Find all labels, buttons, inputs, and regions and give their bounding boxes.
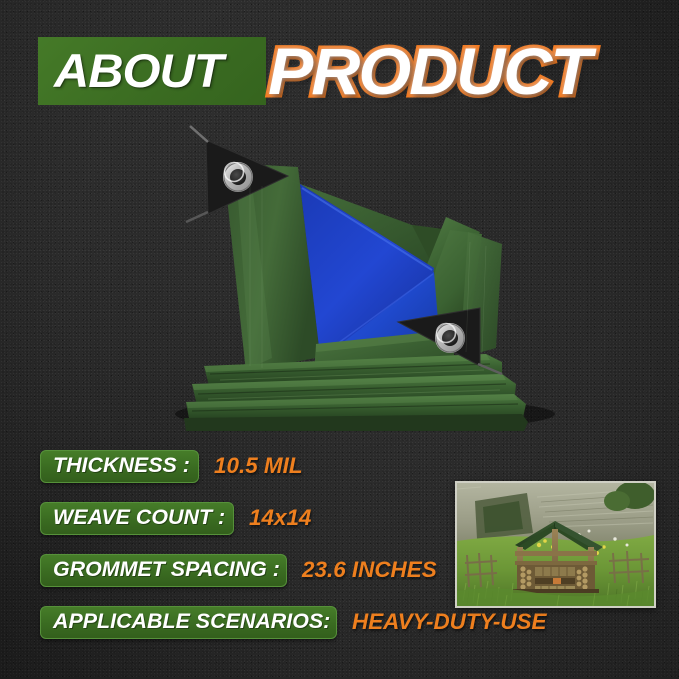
page-title-about: ABOUT xyxy=(54,46,223,96)
spec-label-pill-applicable-scenarios: APPLICABLE SCENARIOS: xyxy=(40,606,337,639)
spec-label-applicable-scenarios: APPLICABLE SCENARIOS: xyxy=(53,611,330,633)
product-infographic: ABOUT PRODUCT xyxy=(0,0,679,679)
spec-label-weave-count: WEAVE COUNT : xyxy=(53,507,225,529)
bug-hotel-illustration xyxy=(457,483,654,606)
usage-scenario-photo xyxy=(455,481,656,608)
spec-value-grommet-spacing: 23.6 INCHES xyxy=(302,558,437,582)
product-photo-tarp xyxy=(150,122,570,432)
spec-label-pill-weave-count: WEAVE COUNT : xyxy=(40,502,234,535)
spec-value-thickness: 10.5 MIL xyxy=(214,454,303,478)
spec-value-applicable-scenarios: HEAVY-DUTY-USE xyxy=(352,610,547,634)
spec-value-weave-count: 14x14 xyxy=(249,506,311,530)
spec-label-grommet-spacing: GROMMET SPACING : xyxy=(53,559,280,581)
tarp-illustration xyxy=(150,122,570,432)
spec-label-pill-grommet-spacing: GROMMET SPACING : xyxy=(40,554,287,587)
spec-label-thickness: THICKNESS : xyxy=(53,455,190,477)
header: ABOUT PRODUCT xyxy=(0,28,679,120)
spec-label-pill-thickness: THICKNESS : xyxy=(40,450,199,483)
page-title-product: PRODUCT xyxy=(268,33,590,109)
